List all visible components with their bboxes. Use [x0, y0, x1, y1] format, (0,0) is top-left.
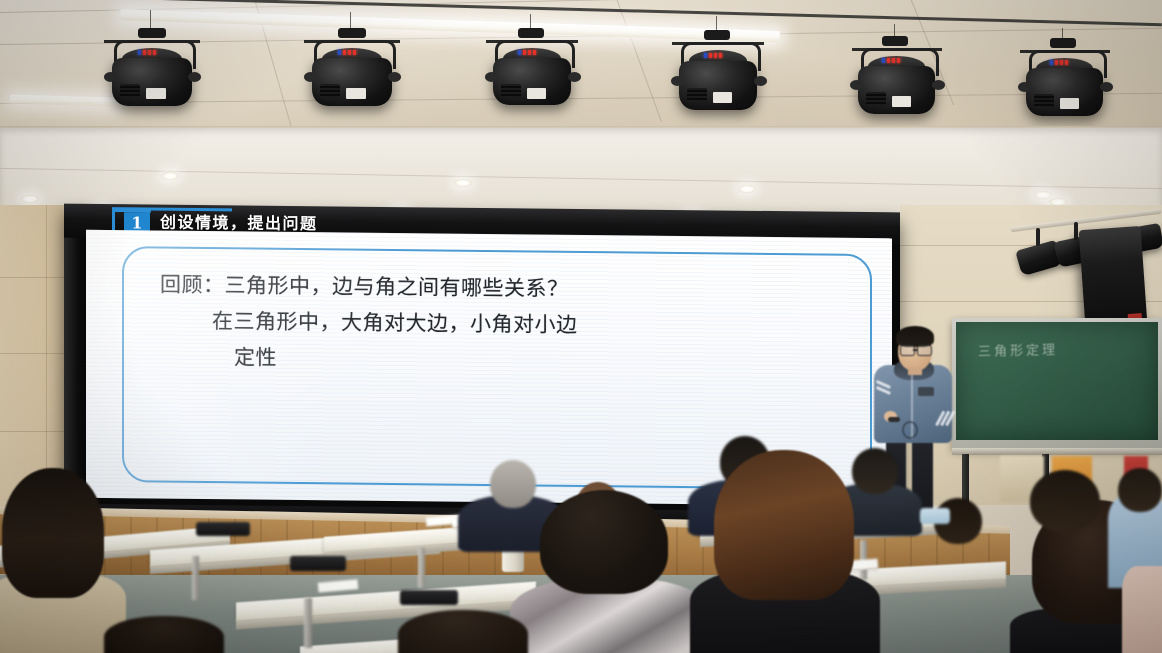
downlight [454, 179, 472, 187]
par-stage-light [1016, 28, 1114, 132]
glasses-lens [917, 345, 932, 356]
slide-line-3: 定性 [234, 339, 866, 382]
chalkboard-writing: 三角形定理 [978, 339, 1058, 360]
glasses-bridge [913, 349, 917, 351]
par-stage-light [848, 24, 946, 128]
teacher-hair [896, 326, 934, 347]
presentation-clicker [888, 417, 900, 422]
hair [714, 450, 854, 600]
audience-member [690, 450, 880, 653]
chalk-tray [952, 448, 1162, 455]
audience-member [1012, 470, 1110, 552]
downlight [738, 185, 756, 193]
audience-member [1122, 546, 1162, 653]
slide-line-2: 在三角形中，大角对大边，小角对小边 [212, 303, 866, 346]
audience-member [398, 604, 528, 653]
chair-back [400, 590, 458, 605]
audience-member [920, 498, 994, 558]
glasses-lens [900, 345, 915, 356]
par-stage-light [300, 12, 404, 112]
chair-back [290, 556, 346, 571]
downlight [21, 195, 39, 203]
par-stage-light [100, 10, 204, 110]
bag-on-stage [920, 508, 950, 524]
desk-leg [418, 548, 425, 588]
par-stage-light [482, 14, 582, 114]
slide-text-block: 回顾：三角形中，边与角之间有哪些关系？ 在三角形中，大角对大边，小角对小边 定性 [160, 267, 866, 382]
jacket-emblem [918, 387, 934, 396]
teacher-neck [908, 367, 922, 375]
desk-leg [192, 556, 199, 600]
classroom-photo: 1 创设情境，提出问题 回顾：三角形中，边与角之间有哪些关系？ 在三角形中，大角… [0, 0, 1162, 653]
downlight [1034, 191, 1052, 199]
par-stage-light [668, 16, 768, 120]
audience-member [510, 490, 710, 653]
spotlight-yoke [1074, 222, 1078, 240]
hair [540, 490, 668, 594]
chalkboard: 三角形定理 [956, 322, 1158, 440]
audience-member [104, 616, 224, 653]
downlight [161, 172, 179, 180]
wall-speaker [1079, 226, 1148, 328]
chair-back [196, 522, 250, 536]
jacket-pocket [902, 421, 918, 439]
spotlight-yoke [1036, 228, 1040, 246]
desk-leg [304, 598, 312, 648]
